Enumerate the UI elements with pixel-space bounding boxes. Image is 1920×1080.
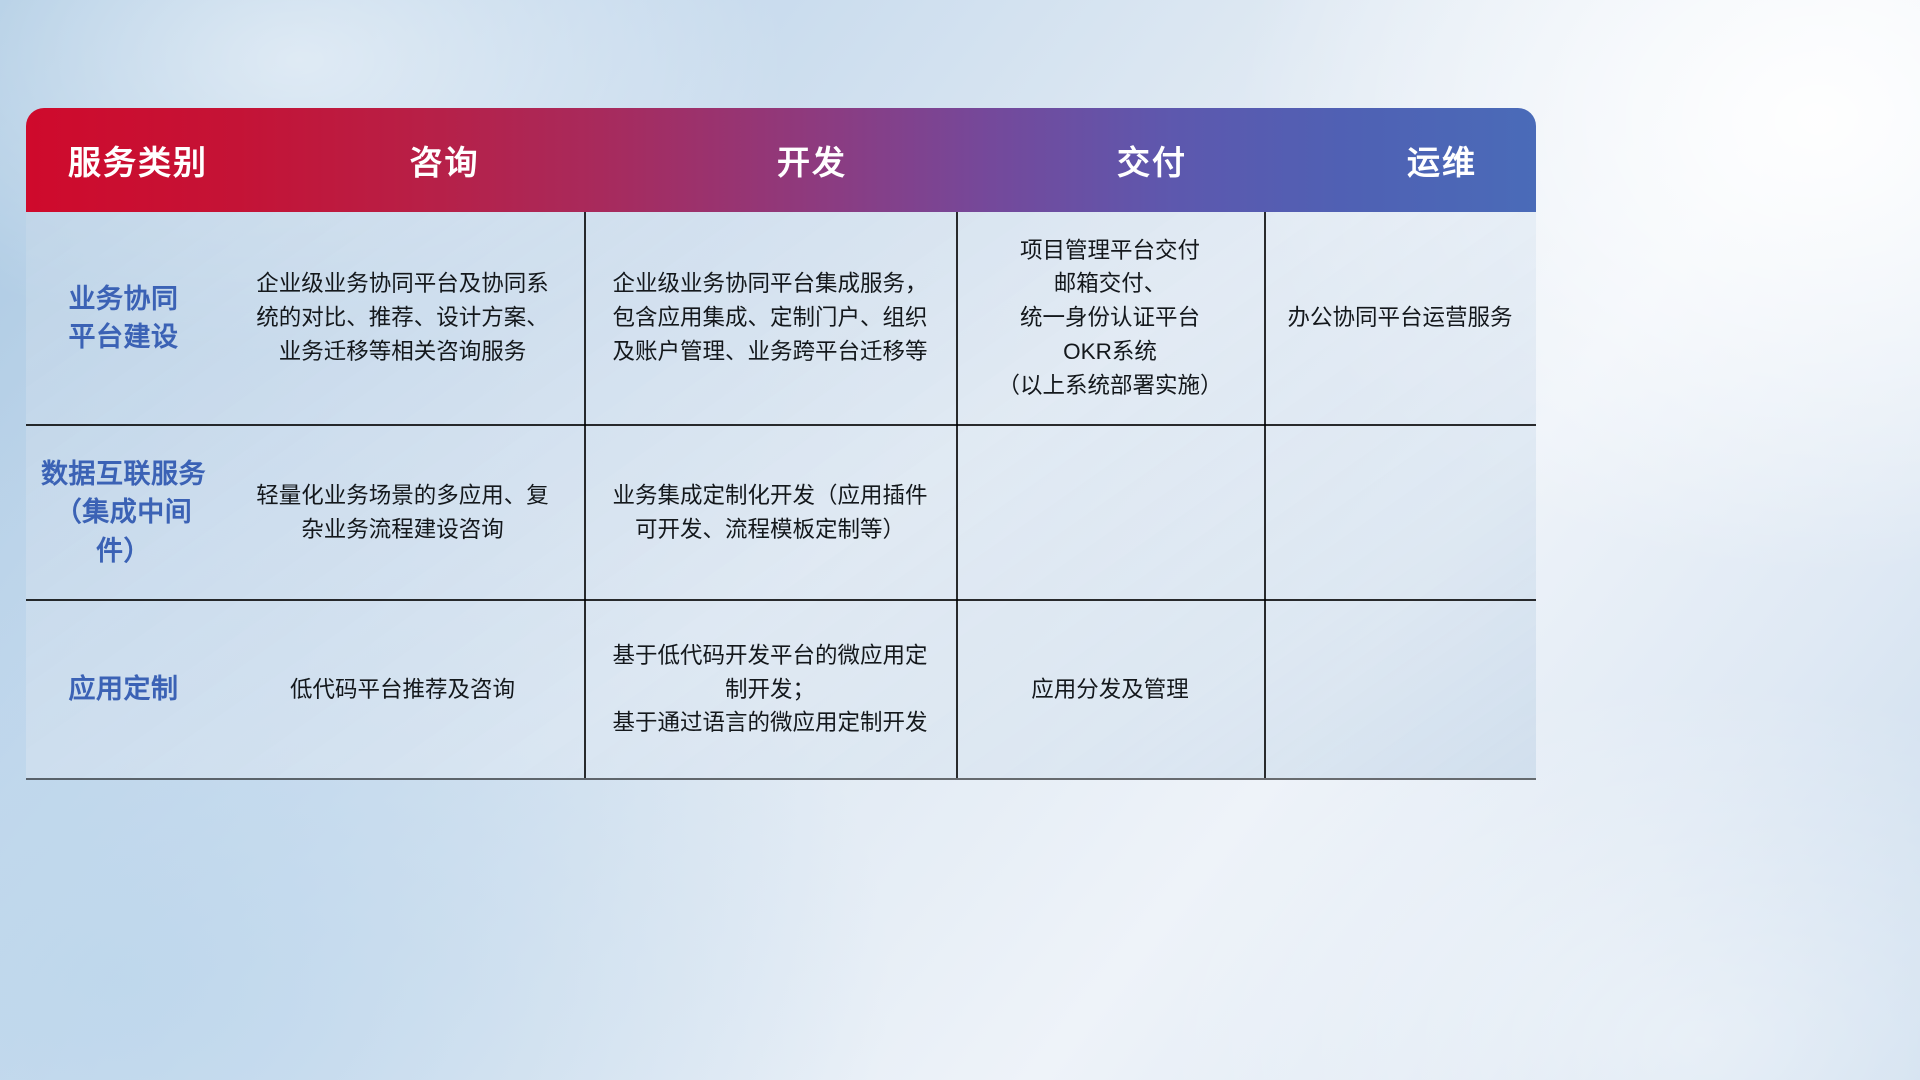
cell-text: 项目管理平台交付 邮箱交付、 统一身份认证平台 OKR系统 （以上系统部署实施） bbox=[997, 234, 1222, 403]
column-header-development: 开发 bbox=[626, 136, 998, 184]
service-matrix-table: 服务类别 咨询 开发 交付 运维 业务协同 平台建设 企业级业务协同平台及协同系… bbox=[26, 108, 1536, 780]
table-row: 应用定制 低代码平台推荐及咨询 基于低代码开发平台的微应用定 制开发； 基于通过… bbox=[26, 599, 1536, 778]
table-row: 业务协同 平台建设 企业级业务协同平台及协同系 统的对比、推荐、设计方案、 业务… bbox=[26, 212, 1536, 424]
cell-delivery: 应用分发及管理 bbox=[956, 601, 1264, 778]
cell-development: 业务集成定制化开发（应用插件 可开发、流程模板定制等） bbox=[584, 426, 956, 599]
column-header-consulting: 咨询 bbox=[263, 136, 626, 184]
cell-consulting: 轻量化业务场景的多应用、复 杂业务流程建设咨询 bbox=[221, 426, 584, 599]
cell-text: 低代码平台推荐及咨询 bbox=[290, 673, 515, 707]
column-header-operations: 运维 bbox=[1306, 136, 1536, 184]
table-body: 业务协同 平台建设 企业级业务协同平台及协同系 统的对比、推荐、设计方案、 业务… bbox=[26, 212, 1536, 780]
column-header-category: 服务类别 bbox=[26, 136, 263, 184]
cell-delivery: 项目管理平台交付 邮箱交付、 统一身份认证平台 OKR系统 （以上系统部署实施） bbox=[956, 212, 1264, 424]
table-row: 数据互联服务 （集成中间件） 轻量化业务场景的多应用、复 杂业务流程建设咨询 业… bbox=[26, 424, 1536, 599]
cell-delivery bbox=[956, 426, 1264, 599]
row-label-cell: 数据互联服务 （集成中间件） bbox=[26, 426, 221, 599]
table-header-row: 服务类别 咨询 开发 交付 运维 bbox=[26, 108, 1536, 212]
row-label-text: 数据互联服务 （集成中间件） bbox=[40, 455, 207, 570]
cell-text: 业务集成定制化开发（应用插件 可开发、流程模板定制等） bbox=[612, 479, 927, 547]
cell-text: 应用分发及管理 bbox=[1031, 673, 1189, 707]
cell-consulting: 企业级业务协同平台及协同系 统的对比、推荐、设计方案、 业务迁移等相关咨询服务 bbox=[221, 212, 584, 424]
cell-text: 企业级业务协同平台集成服务， 包含应用集成、定制门户、组织 及账户管理、业务跨平… bbox=[612, 267, 927, 368]
cell-development: 基于低代码开发平台的微应用定 制开发； 基于通过语言的微应用定制开发 bbox=[584, 601, 956, 778]
cell-consulting: 低代码平台推荐及咨询 bbox=[221, 601, 584, 778]
cell-text: 企业级业务协同平台及协同系 统的对比、推荐、设计方案、 业务迁移等相关咨询服务 bbox=[256, 267, 549, 368]
row-label-text: 应用定制 bbox=[69, 670, 179, 708]
cell-operations bbox=[1264, 601, 1536, 778]
row-label-cell: 业务协同 平台建设 bbox=[26, 212, 221, 424]
row-label-cell: 应用定制 bbox=[26, 601, 221, 778]
cell-operations: 办公协同平台运营服务 bbox=[1264, 212, 1536, 424]
cell-text: 基于低代码开发平台的微应用定 制开发； 基于通过语言的微应用定制开发 bbox=[612, 639, 927, 740]
cell-development: 企业级业务协同平台集成服务， 包含应用集成、定制门户、组织 及账户管理、业务跨平… bbox=[584, 212, 956, 424]
cell-text: 办公协同平台运营服务 bbox=[1287, 301, 1512, 335]
cell-text: 轻量化业务场景的多应用、复 杂业务流程建设咨询 bbox=[256, 479, 549, 547]
column-header-delivery: 交付 bbox=[998, 136, 1306, 184]
slide-canvas: 服务类别 咨询 开发 交付 运维 业务协同 平台建设 企业级业务协同平台及协同系… bbox=[0, 0, 1920, 1080]
row-label-text: 业务协同 平台建设 bbox=[69, 280, 179, 357]
cell-operations bbox=[1264, 426, 1536, 599]
